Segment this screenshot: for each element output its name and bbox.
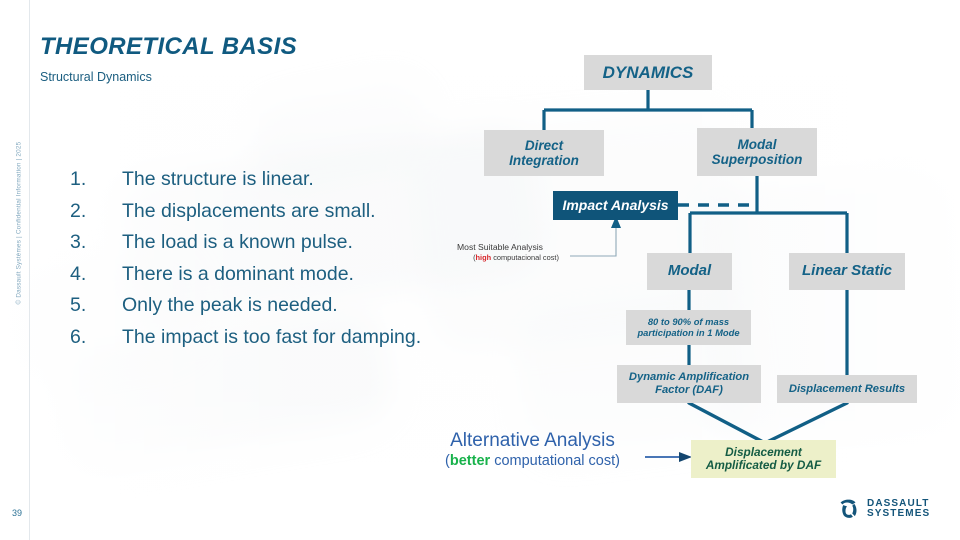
node-modal[interactable]: Modal: [647, 253, 732, 290]
node-impact-analysis-label: Impact Analysis: [562, 198, 668, 214]
node-mass-participation-line2: participation in 1 Mode: [637, 328, 739, 339]
node-dynamics[interactable]: DYNAMICS: [584, 55, 712, 90]
node-daf-line2: Factor (DAF): [655, 384, 723, 397]
node-mass-participation-line1: 80 to 90% of mass: [648, 317, 729, 328]
alternative-analysis-callout: Alternative Analysis (better computation…: [430, 430, 635, 469]
node-direct-integration-line1: Direct: [525, 138, 563, 153]
slide-canvas: © Dassault Systèmes | Confidential Infor…: [0, 0, 960, 540]
alternative-subline: (better computational cost): [430, 453, 635, 469]
node-displacement-results[interactable]: Displacement Results: [777, 375, 917, 403]
node-impact-analysis[interactable]: Impact Analysis: [553, 191, 678, 220]
logo-wordmark: DASSAULT SYSTEMES: [867, 499, 930, 520]
alternative-heading: Alternative Analysis: [430, 430, 635, 452]
node-mass-participation[interactable]: 80 to 90% of mass participation in 1 Mod…: [626, 310, 751, 345]
annotation-rest: computacional cost): [491, 253, 559, 262]
node-modal-superposition-line2: Superposition: [712, 152, 803, 167]
annotation-leader: [570, 228, 616, 256]
node-displacement-amplified-line2: Amplificated by DAF: [706, 459, 821, 472]
node-linear-static-label: Linear Static: [802, 263, 892, 280]
alternative-arrow: [645, 452, 692, 462]
alternative-better: better: [450, 453, 490, 469]
node-direct-integration-line2: Integration: [509, 153, 579, 168]
dynamics-flow-diagram: DYNAMICS Direct Integration Modal Superp…: [0, 0, 960, 540]
node-modal-superposition-line1: Modal: [738, 137, 777, 152]
annotation-highlight: high: [476, 253, 492, 262]
node-daf-line1: Dynamic Amplification: [629, 371, 749, 384]
converging-arrows: [689, 403, 847, 443]
node-linear-static[interactable]: Linear Static: [789, 253, 905, 290]
3ds-compass-icon: [836, 496, 862, 522]
annotation-line2: (high computacional cost): [457, 253, 575, 262]
node-dynamic-amplification-factor[interactable]: Dynamic Amplification Factor (DAF): [617, 365, 761, 403]
node-direct-integration[interactable]: Direct Integration: [484, 130, 604, 176]
alternative-rest: computational cost): [490, 453, 620, 469]
node-displacement-results-label: Displacement Results: [789, 383, 905, 396]
annotation-line1: Most Suitable Analysis: [457, 242, 575, 252]
node-displacement-amplified[interactable]: Displacement Amplificated by DAF: [691, 440, 836, 478]
most-suitable-annotation: Most Suitable Analysis (high computacion…: [457, 242, 575, 262]
dassault-systemes-logo: DASSAULT SYSTEMES: [836, 496, 930, 522]
node-modal-label: Modal: [668, 263, 711, 280]
node-dynamics-label: DYNAMICS: [603, 63, 694, 82]
node-modal-superposition[interactable]: Modal Superposition: [697, 128, 817, 176]
logo-line2: SYSTEMES: [867, 509, 930, 519]
